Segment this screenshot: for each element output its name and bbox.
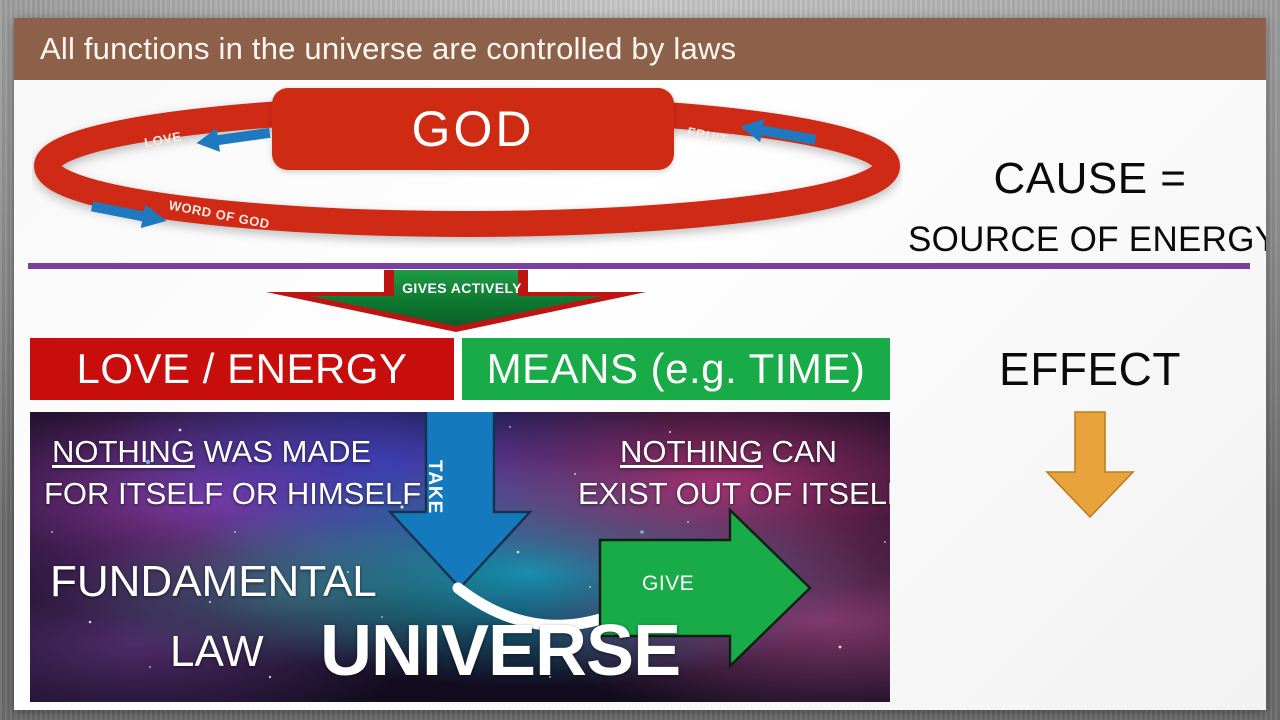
universe-label: UNIVERSE	[320, 610, 680, 692]
cause-label: CAUSE =	[914, 154, 1266, 204]
universe-left-line2: FOR ITSELF OR HIMSELF	[44, 476, 421, 512]
category-bars: LOVE / ENERGY MEANS (e.g. TIME)	[30, 338, 890, 400]
universe-right-nothing: NOTHING	[620, 434, 763, 469]
universe-image-panel: TAKE GIVE NOTHING WAS MADE FOR ITSELF OR…	[30, 412, 890, 702]
arrow-down-icon	[1042, 410, 1138, 520]
give-label: GIVE	[642, 572, 694, 596]
gives-actively-label: GIVES ACTIVELY	[392, 275, 532, 301]
universe-right-line1-rest: CAN	[763, 434, 837, 469]
law-label: LAW	[170, 627, 264, 677]
bar-love-energy-label: LOVE / ENERGY	[77, 345, 408, 393]
cause-effect-column: CAUSE = SOURCE OF ENERGY EFFECT	[914, 142, 1266, 710]
arrow-right-icon	[90, 195, 169, 233]
bar-gap	[454, 338, 462, 400]
cycle-arrows	[32, 88, 902, 248]
fundamental-label: FUNDAMENTAL	[50, 557, 377, 607]
universe-left-line1-rest: WAS MADE	[195, 434, 371, 469]
god-cycle-diagram: GOD LOVE WORD OF GOD FRUIT	[32, 88, 902, 248]
universe-left-nothing: NOTHING	[52, 434, 195, 469]
arrow-left-icon	[195, 121, 272, 155]
effect-label: EFFECT	[914, 342, 1266, 396]
slide-title-band: All functions in the universe are contro…	[14, 18, 1266, 80]
bar-love-energy: LOVE / ENERGY	[30, 338, 454, 400]
bar-means-time: MEANS (e.g. TIME)	[462, 338, 890, 400]
slide-body: GOD LOVE WORD OF GOD FRUIT	[14, 80, 1266, 710]
effect-arrow	[1042, 410, 1138, 520]
universe-right-line2: EXIST OUT OF ITSELF	[578, 476, 890, 512]
slide-title: All functions in the universe are contro…	[14, 31, 736, 67]
universe-right-line1: NOTHING CAN	[620, 434, 837, 470]
arrow-left-icon	[738, 115, 817, 152]
source-of-energy-label: SOURCE OF ENERGY	[908, 220, 1266, 260]
universe-left-line1: NOTHING WAS MADE	[52, 434, 371, 470]
take-label: TAKE	[423, 460, 445, 514]
bar-means-time-label: MEANS (e.g. TIME)	[487, 345, 866, 393]
gives-actively-arrow: GIVES ACTIVELY	[266, 270, 646, 332]
slide-canvas: All functions in the universe are contro…	[14, 18, 1266, 710]
